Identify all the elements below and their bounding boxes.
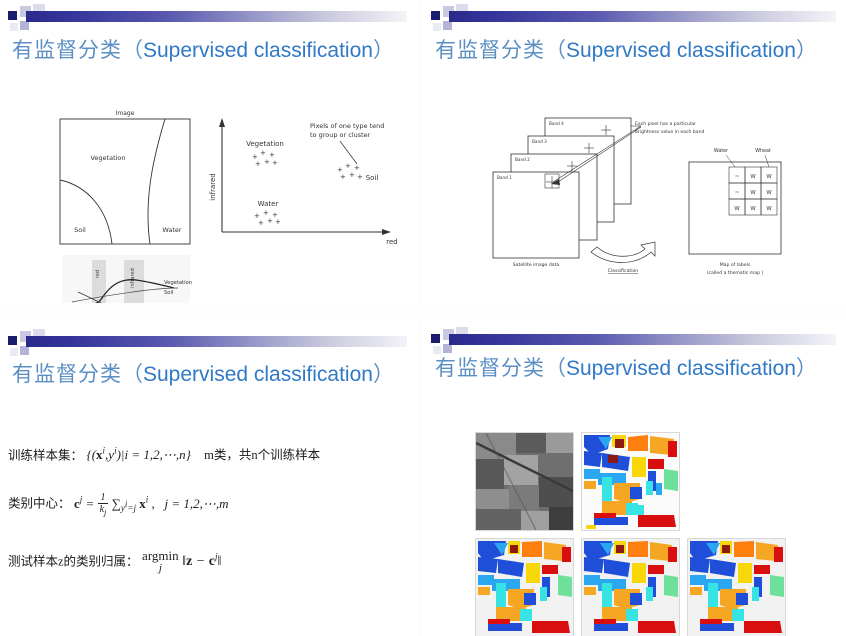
header-square-icon [433, 346, 441, 354]
ground-truth-map-image [581, 432, 680, 531]
slide-4-title: 有监督分类（Supervised classification） [423, 354, 846, 384]
slide-2-title: 有监督分类（Supervised classification） [423, 34, 846, 66]
svg-text:+: + [340, 173, 346, 181]
slide-2-header [423, 0, 846, 34]
slide-deck: 有监督分类（Supervised classification） Image V… [0, 0, 846, 636]
header-square-icon [433, 23, 441, 31]
multiband-classification-figure: Band 4 Band 3 Band 2 Band 1 Satellite im… [483, 114, 803, 282]
slide-3[interactable]: 有监督分类（Supervised classification） 训练样本集： … [0, 318, 417, 636]
slide-4[interactable]: 有监督分类（Supervised classification） [423, 318, 846, 636]
title-chinese: 有监督分类 [12, 363, 122, 386]
title-close-paren: ） [373, 39, 394, 62]
formula-list: 训练样本集： {(xi,yi)|i = 1,2,⋯,n} m类，共n个训练样本 … [8, 442, 411, 601]
header-square-icon [431, 334, 440, 343]
header-gradient-bar [449, 334, 836, 345]
svg-text:Water: Water [258, 200, 279, 208]
svg-text:W: W [750, 174, 756, 180]
classification-result-1-image [475, 538, 574, 636]
svg-text:+: + [275, 218, 281, 226]
formula-trailing: m类，共n个训练样本 [204, 448, 320, 462]
svg-text:Image: Image [116, 110, 135, 117]
svg-text:Pixels of one type tend: Pixels of one type tend [310, 122, 384, 130]
svg-text:Vegetation: Vegetation [90, 154, 125, 162]
title-open-paren: （ [122, 363, 143, 386]
svg-text:Satellite image data: Satellite image data [513, 262, 560, 268]
slide-1[interactable]: 有监督分类（Supervised classification） Image V… [0, 0, 417, 303]
svg-text:infrared: infrared [209, 173, 217, 201]
classification-result-3-svg [688, 539, 785, 636]
svg-text:Each pixel has a particular: Each pixel has a particular [635, 121, 696, 127]
ground-truth-map-svg [582, 433, 679, 530]
result-image-grid [475, 432, 786, 636]
svg-text:+: + [263, 209, 269, 217]
classification-result-2-svg [582, 539, 679, 636]
result-row-top [475, 432, 786, 531]
header-gradient-bar [26, 11, 407, 22]
classification-result-2-image [581, 538, 680, 636]
slide-1-header [0, 0, 417, 34]
title-english: Supervised classification [143, 363, 373, 386]
classification-result-3-image [687, 538, 786, 636]
svg-text:to group or cluster: to group or cluster [310, 131, 371, 139]
header-square-icon [443, 344, 452, 353]
svg-text:+: + [354, 164, 360, 172]
svg-text:Band 4: Band 4 [549, 121, 564, 126]
svg-text:+: + [269, 151, 275, 159]
svg-text:Water: Water [714, 148, 728, 154]
svg-text:infrared: infrared [130, 268, 136, 288]
svg-text:red: red [386, 238, 397, 246]
formula-label: 类别中心： [8, 497, 71, 511]
svg-text:Map of labels: Map of labels [720, 262, 751, 268]
title-open-paren: （ [122, 39, 143, 62]
formula-label: 训练样本集： [8, 448, 83, 462]
svg-text:~: ~ [735, 174, 740, 180]
header-square-icon [10, 348, 18, 356]
svg-text:brightness value in each band: brightness value in each band [635, 129, 705, 135]
svg-text:Water: Water [162, 226, 182, 234]
svg-text:W: W [750, 206, 756, 212]
svg-text:red: red [95, 270, 101, 278]
svg-text:Vegetation: Vegetation [164, 280, 192, 286]
slide-3-header [0, 318, 417, 358]
svg-text:+: + [264, 158, 270, 166]
spectral-clustering-concept-figure: Image Vegetation Soil Water infrared red… [40, 102, 410, 303]
classification-result-1-svg [476, 539, 573, 636]
svg-text:W: W [766, 174, 772, 180]
svg-text:W: W [766, 190, 772, 196]
svg-text:(called a thematic map ): (called a thematic map ) [707, 270, 764, 276]
svg-text:Wheat: Wheat [755, 148, 771, 154]
svg-text:Vegetation: Vegetation [246, 140, 284, 148]
formula-row-test-assignment: 测试样本z的类别归属： argminj ‖z − cj‖ [8, 548, 411, 575]
slide-1-title: 有监督分类（Supervised classification） [0, 34, 417, 66]
svg-text:~: ~ [735, 190, 740, 196]
svg-text:+: + [260, 149, 266, 157]
header-square-icon [8, 336, 17, 345]
header-square-icon [443, 21, 452, 30]
title-chinese: 有监督分类 [435, 357, 545, 380]
svg-text:W: W [766, 206, 772, 212]
header-square-icon [8, 11, 17, 20]
formula-expression: ‖z − cj‖ [182, 554, 221, 569]
formula-expression: cj = 1kj ∑yi=j xi , j = 1,2,⋯,m [74, 496, 229, 511]
svg-text:+: + [345, 162, 351, 170]
svg-text:Band 3: Band 3 [532, 139, 547, 144]
svg-text:Band 2: Band 2 [515, 157, 530, 162]
formula-expression: {(xi,yi)|i = 1,2,⋯,n} [87, 447, 195, 462]
svg-text:Soil: Soil [164, 290, 173, 296]
title-close-paren: ） [373, 363, 394, 386]
header-gradient-bar [449, 11, 836, 22]
svg-text:Classification: Classification [608, 268, 638, 274]
grayscale-scene-svg [476, 433, 573, 530]
title-close-paren: ） [796, 39, 817, 62]
svg-text:+: + [258, 219, 264, 227]
title-open-paren: （ [545, 357, 566, 380]
title-close-paren: ） [796, 357, 817, 380]
formula-row-class-center: 类别中心： cj = 1kj ∑yi=j xi , j = 1,2,⋯,m [8, 490, 411, 517]
svg-text:Band 1: Band 1 [497, 175, 512, 180]
title-english: Supervised classification [566, 39, 796, 62]
title-chinese: 有监督分类 [12, 39, 122, 62]
header-square-icon [431, 11, 440, 20]
title-english: Supervised classification [143, 39, 373, 62]
header-square-icon [20, 21, 29, 30]
slide-3-title: 有监督分类（Supervised classification） [0, 358, 417, 390]
title-open-paren: （ [545, 39, 566, 62]
svg-text:+: + [267, 217, 273, 225]
header-gradient-bar [26, 336, 407, 347]
title-english: Supervised classification [566, 357, 796, 380]
grayscale-scene-image [475, 432, 574, 531]
result-row-bottom [475, 538, 786, 636]
svg-text:Soil: Soil [366, 174, 379, 182]
svg-text:Soil: Soil [74, 226, 86, 234]
svg-text:+: + [272, 159, 278, 167]
formula-row-training-set: 训练样本集： {(xi,yi)|i = 1,2,⋯,n} m类，共n个训练样本 [8, 442, 411, 464]
formula-label: 测试样本z的类别归属： [8, 554, 139, 568]
svg-text:+: + [349, 171, 355, 179]
header-square-icon [10, 23, 18, 31]
svg-text:+: + [357, 173, 363, 181]
slide-4-header [423, 318, 846, 354]
svg-text:W: W [750, 190, 756, 196]
title-chinese: 有监督分类 [435, 39, 545, 62]
header-square-icon [20, 346, 29, 355]
svg-text:+: + [255, 160, 261, 168]
argmin-operator: argminj [142, 549, 179, 575]
svg-text:W: W [734, 206, 740, 212]
slide-2[interactable]: 有监督分类（Supervised classification） Band 4 … [423, 0, 846, 303]
